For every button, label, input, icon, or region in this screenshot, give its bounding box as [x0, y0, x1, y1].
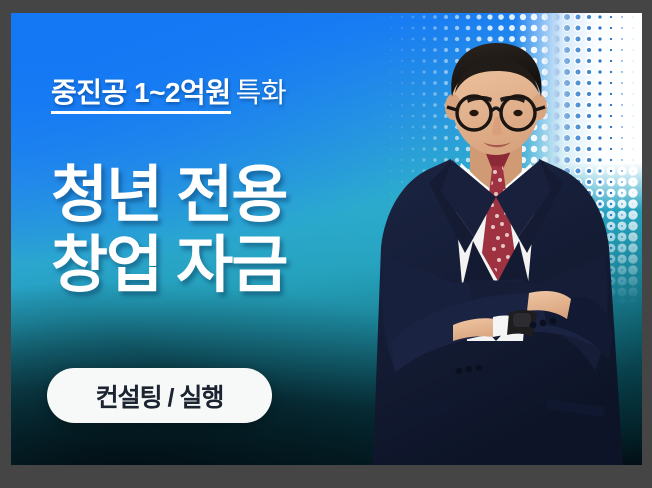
cta-button[interactable]: 컨설팅 / 실행	[47, 368, 272, 423]
banner-canvas: 중진공 1~2억원특화 청년 전용 창업 자금 컨설팅 / 실행	[11, 13, 642, 465]
copy-block: 중진공 1~2억원특화 청년 전용 창업 자금 컨설팅 / 실행	[11, 13, 371, 465]
page-title: 청년 전용 창업 자금	[51, 161, 286, 301]
eyebrow-plain: 특화	[236, 77, 287, 108]
eyebrow-underlined: 중진공 1~2억원	[51, 77, 231, 114]
portrait-image	[333, 41, 642, 465]
headline-line-1: 청년 전용	[51, 161, 286, 231]
eyebrow-text: 중진공 1~2억원특화	[51, 79, 286, 107]
banner-frame: 중진공 1~2억원특화 청년 전용 창업 자금 컨설팅 / 실행	[0, 0, 652, 488]
cta-button-label: 컨설팅 / 실행	[96, 378, 224, 414]
headline-line-2: 창업 자금	[51, 231, 286, 301]
